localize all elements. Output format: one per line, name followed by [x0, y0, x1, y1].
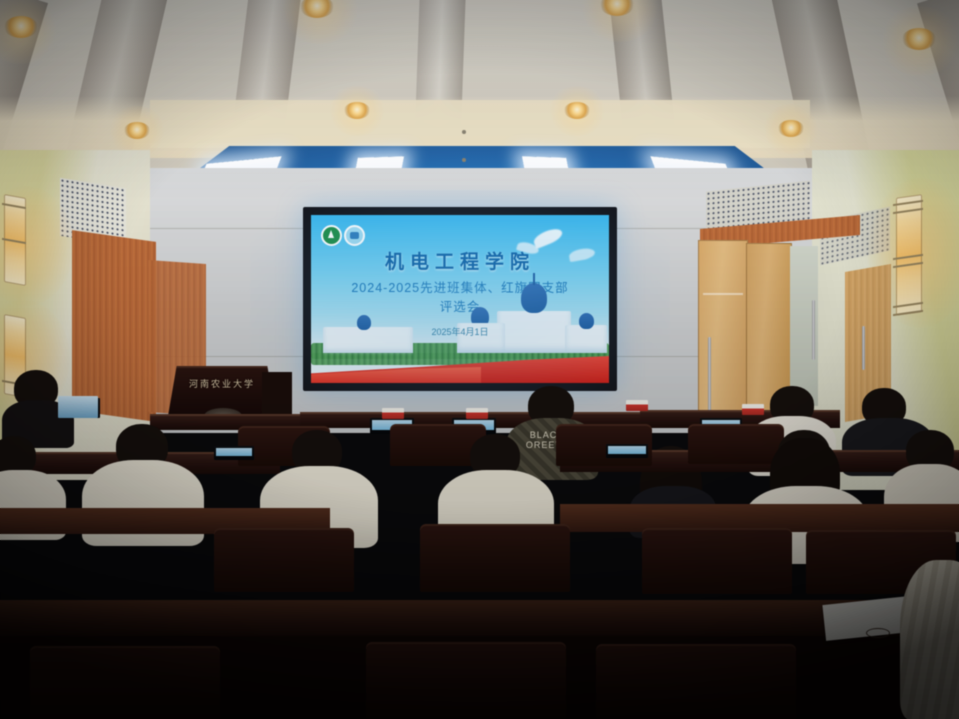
dove-icon-1: [532, 226, 565, 249]
dome-spire-main: [533, 273, 535, 285]
name-placard-2: [466, 408, 488, 419]
name-placard-3: [626, 400, 648, 411]
seat-back-n3: [596, 644, 796, 719]
cabinet-handle-right[interactable]: [862, 326, 865, 370]
eyeglasses: [866, 628, 890, 638]
desk-row-4-front: [0, 600, 959, 638]
conference-hall-photo: 机电工程学院 2024-2025先进班集体、红旗团支部 评选会 2025年4月1…: [0, 0, 959, 719]
sprinkler-head-1: [462, 130, 466, 134]
monitor-6: [606, 444, 648, 458]
slide-subtitle-line1: 2024-2025先进班集体、红旗团支部: [311, 277, 609, 296]
university-emblem-icon: [321, 225, 342, 246]
projection-screen-bezel: 机电工程学院 2024-2025先进班集体、红旗团支部 评选会 2025年4月1…: [303, 207, 617, 391]
ceiling-soffit-face: [150, 100, 810, 148]
door-handle-right[interactable]: [812, 300, 815, 360]
laptop-screen-left: [58, 396, 98, 418]
wood-panel-left: [72, 230, 156, 422]
seat-back-m4: [688, 424, 784, 464]
sprinkler-head-2: [462, 158, 466, 162]
monitor-5: [214, 446, 254, 460]
seat-back-f2: [420, 524, 570, 592]
spotlight-6: [344, 102, 370, 119]
door-leaf-left[interactable]: [698, 240, 748, 412]
name-placard-1: [382, 408, 404, 419]
dome-main: [521, 283, 547, 313]
seat-back-f1: [214, 528, 354, 592]
slide-title: 机电工程学院: [311, 247, 609, 274]
door-handle-left[interactable]: [708, 337, 711, 415]
door-inlay-strip: [703, 293, 743, 295]
youth-league-emblem-icon: [344, 225, 365, 246]
lectern-nameplate: 河南农业大学: [168, 377, 276, 390]
spotlight-7: [564, 102, 590, 119]
spotlight-4: [902, 28, 936, 50]
projection-screen[interactable]: 机电工程学院 2024-2025先进班集体、红旗团支部 评选会 2025年4月1…: [311, 215, 609, 383]
spotlight-5: [124, 122, 150, 139]
seat-back-n1: [30, 646, 220, 719]
spotlight-1: [4, 16, 38, 38]
seat-back-n2: [366, 642, 566, 719]
slide-date: 2025年4月1日: [311, 325, 609, 338]
seat-back-f3: [642, 528, 792, 594]
spotlight-8: [778, 120, 804, 137]
name-placard-4: [742, 404, 764, 415]
